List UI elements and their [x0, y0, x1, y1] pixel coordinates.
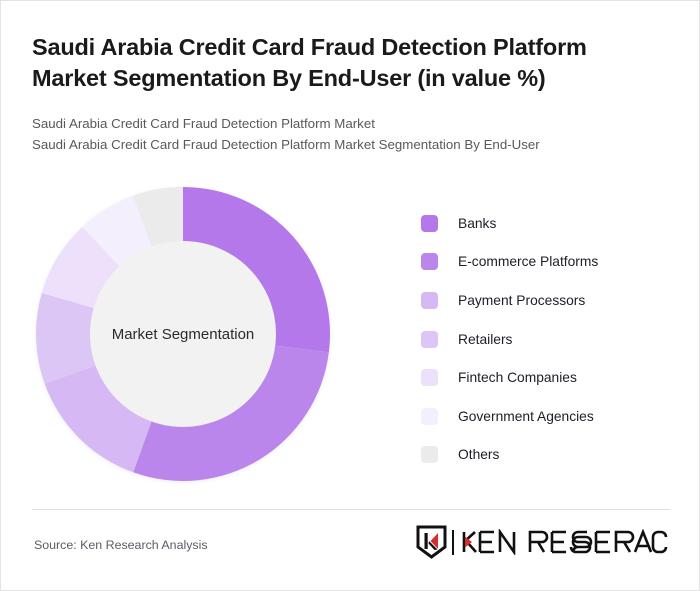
legend-swatch-icon: [421, 292, 438, 309]
legend-item[interactable]: Government Agencies: [421, 397, 681, 436]
legend-swatch-icon: [421, 408, 438, 425]
legend-item[interactable]: Banks: [421, 204, 681, 243]
legend-label: Retailers: [458, 332, 512, 347]
donut-svg: [33, 184, 333, 484]
legend-swatch-icon: [421, 215, 438, 232]
legend-swatch-icon: [421, 331, 438, 348]
legend-swatch-icon: [421, 446, 438, 463]
chart-legend: BanksE-commerce PlatformsPayment Process…: [421, 204, 681, 474]
legend-swatch-icon: [421, 369, 438, 386]
legend-label: Payment Processors: [458, 293, 585, 308]
page-title: Saudi Arabia Credit Card Fraud Detection…: [32, 32, 652, 95]
legend-label: E-commerce Platforms: [458, 254, 598, 269]
chart-page: Saudi Arabia Credit Card Fraud Detection…: [0, 0, 700, 591]
donut-chart: Market Segmentation: [33, 184, 333, 484]
chart-area: Market Segmentation BanksE-commerce Plat…: [1, 166, 700, 496]
legend-item[interactable]: E-commerce Platforms: [421, 243, 681, 282]
legend-item[interactable]: Fintech Companies: [421, 358, 681, 397]
logo-wordmark-wrap: [460, 529, 668, 555]
source-note: Source: Ken Research Analysis: [34, 538, 208, 552]
ken-research-logo: [416, 525, 668, 559]
legend-item[interactable]: Retailers: [421, 320, 681, 359]
ken-research-wordmark-icon: [460, 529, 668, 555]
legend-swatch-icon: [421, 253, 438, 270]
subtitle-block: Saudi Arabia Credit Card Fraud Detection…: [32, 114, 662, 155]
legend-label: Others: [458, 447, 499, 462]
logo-divider: [452, 530, 454, 555]
subtitle-line-1: Saudi Arabia Credit Card Fraud Detection…: [32, 114, 662, 135]
legend-item[interactable]: Others: [421, 436, 681, 475]
ken-shield-icon: [416, 525, 447, 559]
footer-divider: [32, 509, 670, 510]
donut-hole: [90, 241, 276, 427]
legend-item[interactable]: Payment Processors: [421, 281, 681, 320]
legend-label: Banks: [458, 216, 496, 231]
legend-label: Fintech Companies: [458, 370, 577, 385]
legend-label: Government Agencies: [458, 409, 594, 424]
subtitle-line-2: Saudi Arabia Credit Card Fraud Detection…: [32, 135, 662, 156]
